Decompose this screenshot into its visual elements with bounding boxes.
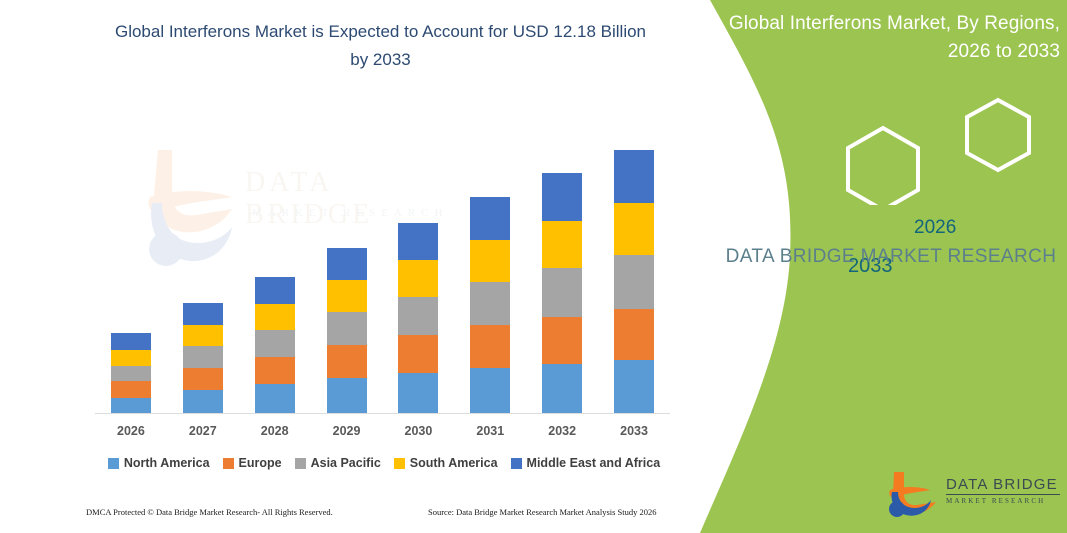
bar-segment [327, 345, 367, 378]
bar-segment [255, 330, 295, 357]
stacked-bar [542, 173, 582, 413]
bar-segment [614, 255, 654, 309]
bar-segment [111, 333, 151, 350]
footer-source: Source: Data Bridge Market Research Mark… [428, 507, 657, 517]
logo-divider [946, 494, 1060, 495]
bar-segment [183, 368, 223, 390]
side-panel-title: Global Interferons Market, By Regions, 2… [720, 10, 1060, 66]
bar-column [526, 120, 598, 413]
bar-segment [327, 378, 367, 413]
legend-label: Asia Pacific [311, 456, 381, 470]
x-axis-tick-label: 2027 [167, 424, 239, 438]
x-axis-tick-label: 2026 [95, 424, 167, 438]
logo-subtitle: MARKET RESEARCH [946, 497, 1064, 506]
stacked-bar [614, 150, 654, 413]
bar-segment [470, 197, 510, 240]
page-title: Global Interferons Market is Expected to… [108, 18, 653, 74]
bar-segment [255, 357, 295, 384]
bar-segment [255, 304, 295, 330]
x-axis-tick-label: 2031 [454, 424, 526, 438]
stacked-bar [398, 223, 438, 413]
bar-segment [398, 373, 438, 413]
stacked-bar-chart [95, 120, 670, 413]
x-axis-tick-label: 2030 [383, 424, 455, 438]
bar-column [598, 120, 670, 413]
logo-mark-icon [884, 468, 942, 520]
x-axis-tick-label: 2033 [598, 424, 670, 438]
slide-canvas: Global Interferons Market, By Regions, 2… [0, 0, 1067, 533]
bar-segment [614, 150, 654, 203]
stacked-bar [327, 248, 367, 413]
bar-column [239, 120, 311, 413]
side-panel-brand: DATA BRIDGE MARKET RESEARCH [715, 243, 1067, 271]
data-bridge-logo: DATA BRIDGE MARKET RESEARCH [884, 468, 1064, 524]
stacked-bar [183, 303, 223, 413]
bar-segment [111, 350, 151, 366]
bar-segment [398, 260, 438, 297]
bar-column [383, 120, 455, 413]
bar-segment [542, 317, 582, 364]
bar-segment [470, 325, 510, 368]
bar-segment [111, 381, 151, 398]
bar-segment [542, 268, 582, 317]
x-axis-line [95, 413, 670, 414]
legend-item[interactable]: Europe [223, 456, 282, 470]
x-axis-labels: 20262027202820292030203120322033 [95, 424, 670, 438]
bar-segment [111, 366, 151, 381]
legend-label: Middle East and Africa [527, 456, 661, 470]
bar-segment [542, 364, 582, 413]
legend-swatch [223, 458, 234, 469]
logo-title: DATA BRIDGE [946, 476, 1064, 493]
bar-segment [614, 203, 654, 255]
bar-segment [183, 303, 223, 325]
legend-label: North America [124, 456, 210, 470]
bar-segment [614, 360, 654, 413]
legend-item[interactable]: South America [394, 456, 498, 470]
legend-item[interactable]: Asia Pacific [295, 456, 381, 470]
bar-segment [183, 325, 223, 346]
chart-legend: North AmericaEuropeAsia PacificSouth Ame… [95, 456, 673, 470]
hexagon-label-2026: 2026 [914, 217, 956, 239]
bar-segment [327, 248, 367, 280]
legend-swatch [511, 458, 522, 469]
x-axis-tick-label: 2028 [239, 424, 311, 438]
stacked-bar [111, 333, 151, 413]
logo-text-block: DATA BRIDGE MARKET RESEARCH [946, 476, 1064, 506]
bar-segment [398, 335, 438, 373]
bar-segment [255, 277, 295, 304]
stacked-bar [470, 197, 510, 413]
bar-segment [111, 398, 151, 413]
x-axis-tick-label: 2029 [311, 424, 383, 438]
bar-segment [398, 223, 438, 260]
footer-copyright: DMCA Protected © Data Bridge Market Rese… [86, 507, 333, 517]
bar-segment [327, 280, 367, 312]
side-panel: Global Interferons Market, By Regions, 2… [715, 0, 1067, 533]
bar-segment [470, 368, 510, 413]
bar-column [311, 120, 383, 413]
legend-item[interactable]: Middle East and Africa [511, 456, 661, 470]
hexagon-outlines [815, 95, 1065, 205]
bar-segment [398, 297, 438, 335]
bar-segment [327, 312, 367, 345]
bar-segment [470, 240, 510, 282]
legend-item[interactable]: North America [108, 456, 210, 470]
bar-segment [614, 309, 654, 360]
bar-column [454, 120, 526, 413]
bar-segment [255, 384, 295, 413]
bar-segment [542, 221, 582, 268]
bar-segment [183, 390, 223, 413]
legend-swatch [108, 458, 119, 469]
legend-label: Europe [239, 456, 282, 470]
bar-segment [542, 173, 582, 221]
legend-swatch [394, 458, 405, 469]
legend-label: South America [410, 456, 498, 470]
hexagon-group: 2033 2026 [815, 95, 1065, 205]
stacked-bar [255, 277, 295, 413]
x-axis-tick-label: 2032 [526, 424, 598, 438]
bar-column [167, 120, 239, 413]
bar-segment [183, 346, 223, 368]
legend-swatch [295, 458, 306, 469]
bar-column [95, 120, 167, 413]
bar-segment [470, 282, 510, 325]
